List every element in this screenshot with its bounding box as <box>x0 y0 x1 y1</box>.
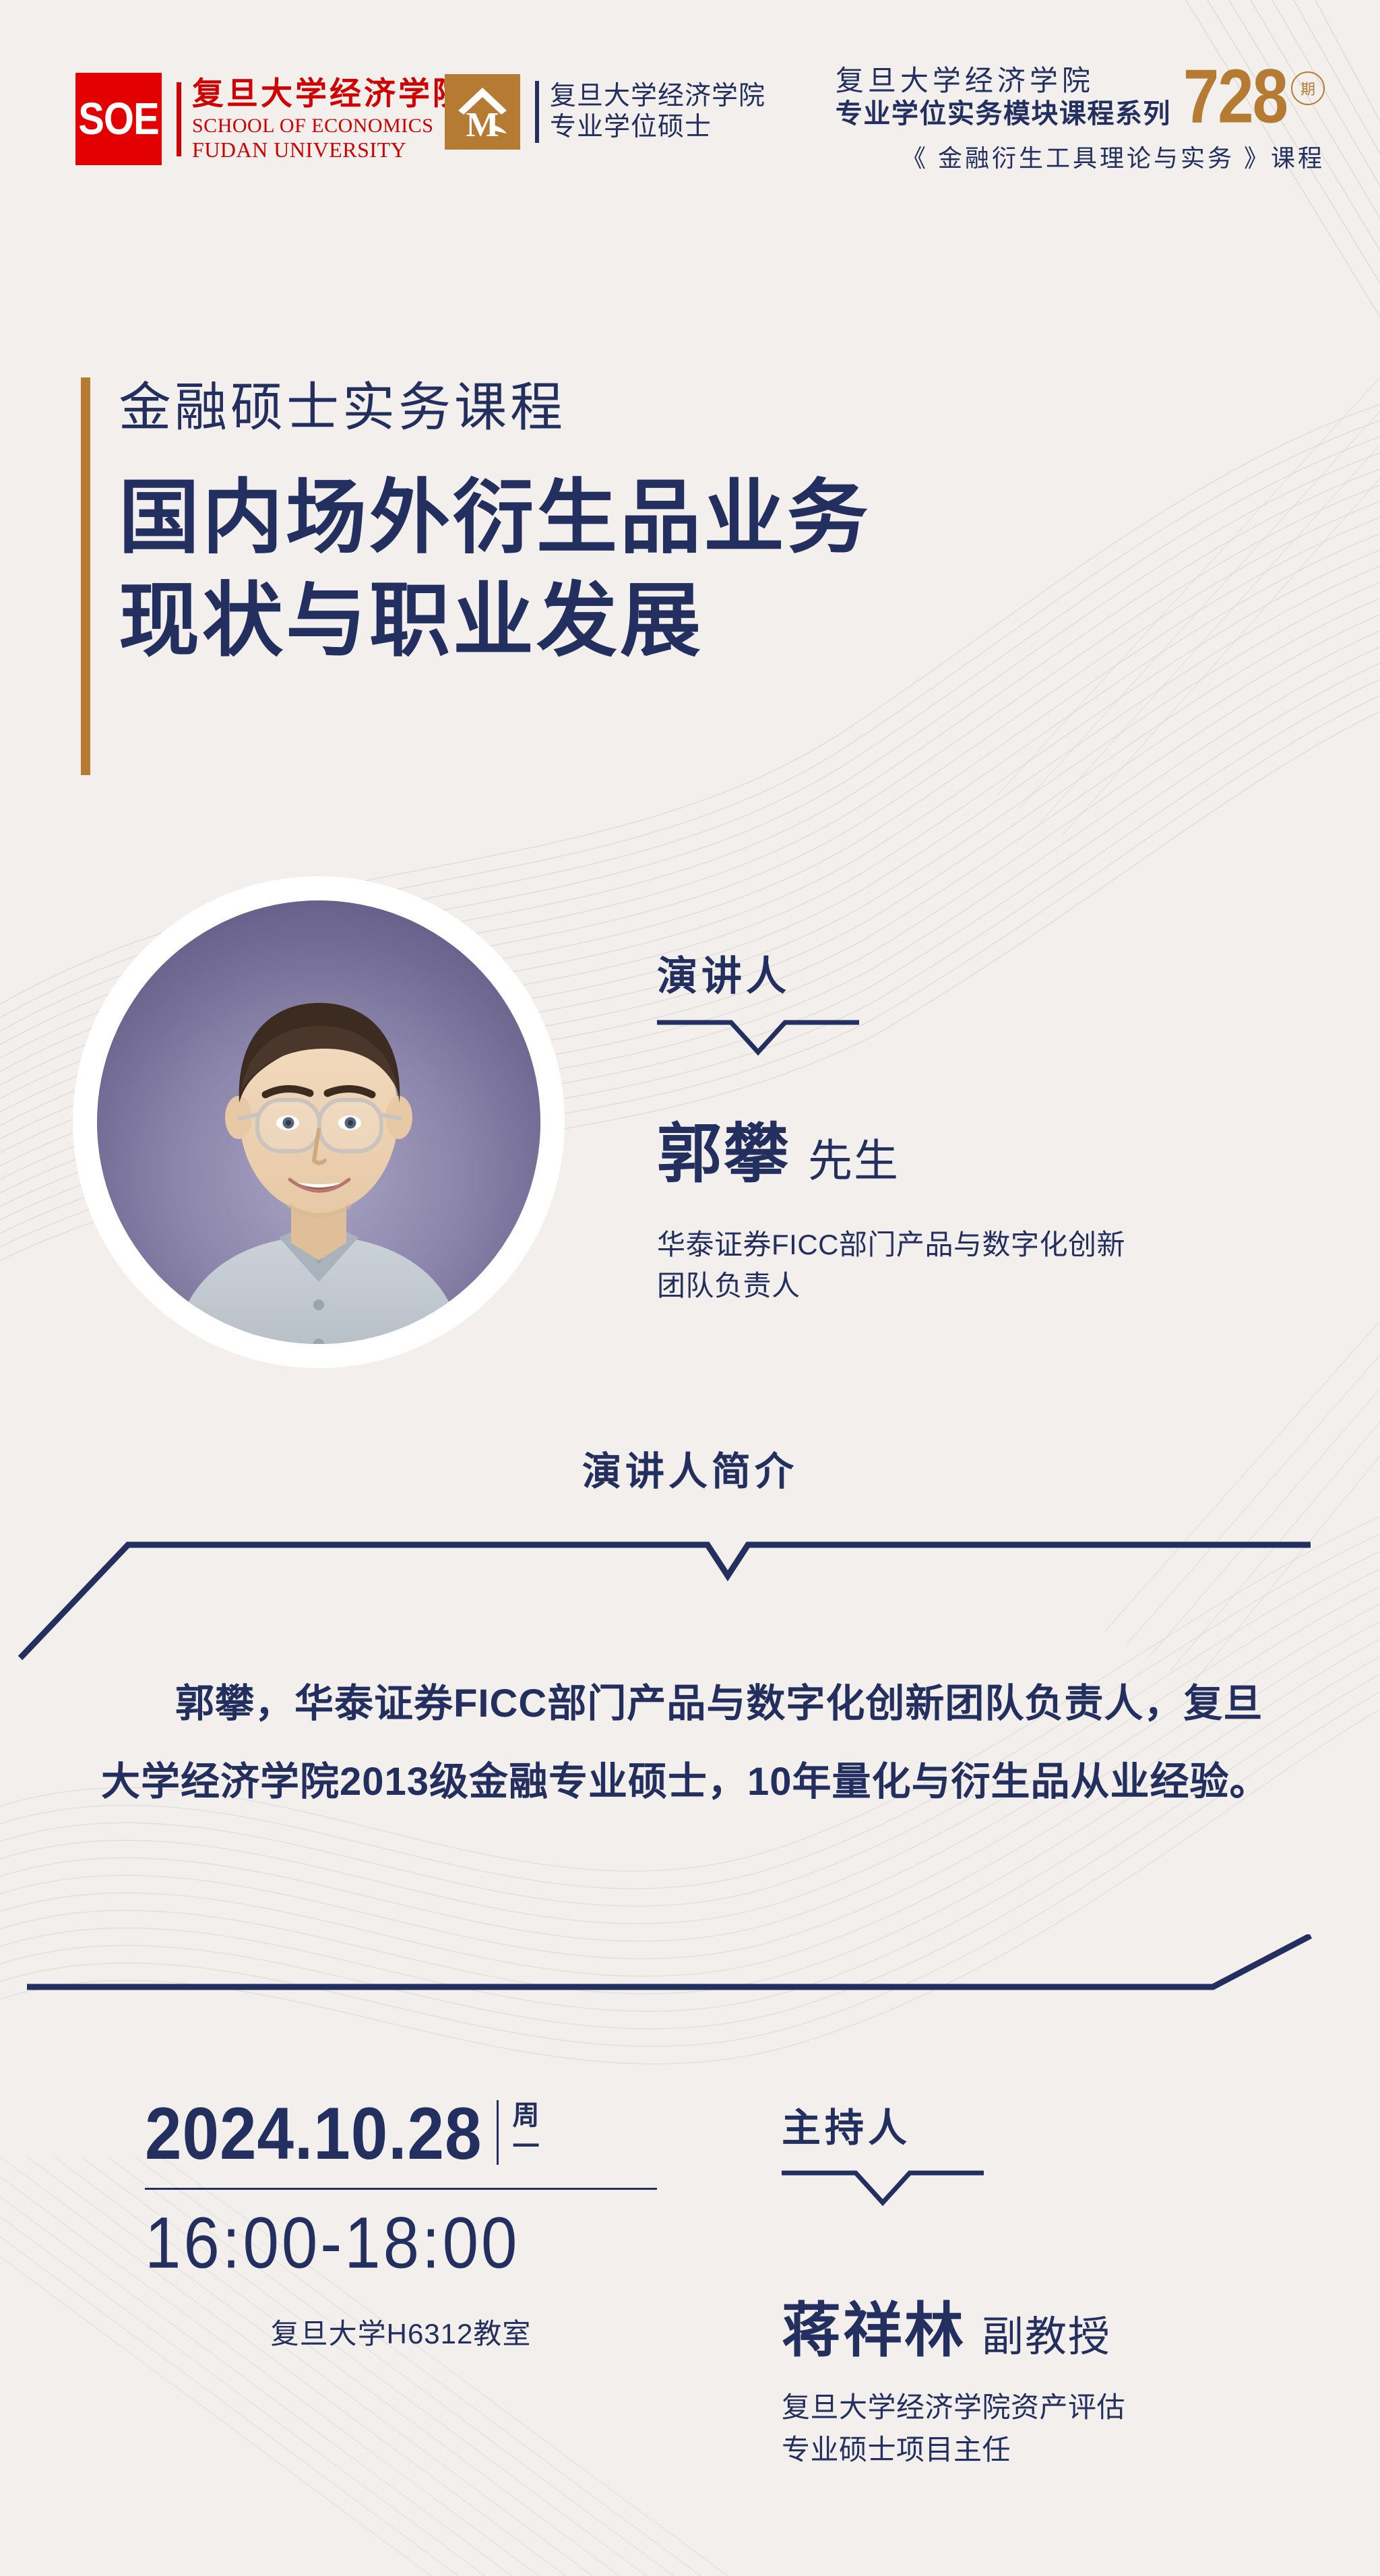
date-underline <box>145 2188 657 2190</box>
bio-frame-top-icon <box>0 1530 1380 1665</box>
bio-text: 郭攀，华泰证券FICC部门产品与数字化创新团队负责人，复旦大学经济学院2013级… <box>101 1665 1287 1821</box>
host-section-label: 主持人 <box>782 2096 1125 2153</box>
host-organization: 复旦大学经济学院资产评估 专业硕士项目主任 <box>782 2386 1125 2471</box>
series-line2: 专业学位实务模块课程系列 <box>836 99 1171 129</box>
speaker-title-line1: 华泰证券FICC部门产品与数字化创新 <box>657 1225 1125 1266</box>
event-details: 2024.10.28 周 一 16:00-18:00 复旦大学H6312教室 主… <box>0 2096 1380 2471</box>
master-logo-wordmark: 复旦大学经济学院 专业学位硕士 <box>550 81 765 143</box>
series-issue-number: 728 <box>1183 63 1287 131</box>
soe-logo-en-line1: SCHOOL OF ECONOMICS <box>192 116 467 136</box>
event-weekday: 周 一 <box>512 2100 539 2162</box>
series-text-block: 复旦大学经济学院 专业学位实务模块课程系列 <box>836 65 1171 129</box>
portrait-illustration <box>97 900 540 1344</box>
master-logo-line1: 复旦大学经济学院 <box>550 81 765 112</box>
master-program-logo: M 复旦大学经济学院 专业学位硕士 <box>445 74 765 150</box>
event-time: 16:00-18:00 <box>145 2207 520 2280</box>
date-separator <box>497 2100 499 2165</box>
date-row: 2024.10.28 周 一 <box>145 2096 704 2165</box>
svg-text:M: M <box>466 106 499 144</box>
header: SOE 复旦大学经济学院 SCHOOL OF ECONOMICS FUDAN U… <box>0 58 1380 213</box>
speaker-honorific: 先生 <box>808 1125 900 1190</box>
chevron-down-icon <box>657 1017 859 1059</box>
speaker-block: 演讲人 郭攀 先生 华泰证券FICC部门产品与数字化创新 团队负责人 <box>657 944 1125 1307</box>
speaker-chevron-divider <box>657 1017 1125 1062</box>
speaker-title: 华泰证券FICC部门产品与数字化创新 团队负责人 <box>657 1225 1125 1307</box>
weekday-char1: 周 <box>512 2100 539 2131</box>
title-texts: 金融硕士实务课程 国内场外衍生品业务 现状与职业发展 <box>119 377 871 775</box>
soe-logo-mark: SOE <box>75 73 162 165</box>
host-block: 主持人 蒋祥林 副教授 复旦大学经济学院资产评估 专业硕士项目主任 <box>782 2096 1125 2471</box>
date-time-block: 2024.10.28 周 一 16:00-18:00 复旦大学H6312教室 <box>145 2096 704 2471</box>
title-main-line2: 现状与职业发展 <box>119 570 871 673</box>
speaker-section-label: 演讲人 <box>657 944 1125 1002</box>
event-date: 2024.10.28 <box>145 2096 482 2170</box>
title-block: 金融硕士实务课程 国内场外衍生品业务 现状与职业发展 <box>81 377 871 775</box>
title-main-line1: 国内场外衍生品业务 <box>119 466 871 570</box>
event-venue: 复旦大学H6312教室 <box>145 2311 657 2352</box>
bio-section-label: 演讲人简介 <box>582 1450 798 1494</box>
host-org-line1: 复旦大学经济学院资产评估 <box>782 2386 1125 2428</box>
soe-logo-mark-text: SOE <box>78 93 159 145</box>
soe-logo: SOE 复旦大学经济学院 SCHOOL OF ECONOMICS FUDAN U… <box>75 73 467 165</box>
soe-logo-divider <box>177 82 181 156</box>
bio-bottom-frame <box>0 1934 1380 2019</box>
soe-logo-en-line2: FUDAN UNIVERSITY <box>192 139 467 160</box>
poster-root: SOE 复旦大学经济学院 SCHOOL OF ECONOMICS FUDAN U… <box>0 0 1380 2576</box>
master-logo-divider <box>535 81 539 143</box>
soe-logo-cn-name: 复旦大学经济学院 <box>192 78 467 110</box>
speaker-title-line2: 团队负责人 <box>657 1266 1125 1307</box>
chevron-down-icon <box>782 2168 984 2209</box>
title-accent-bar <box>81 377 90 775</box>
speaker-portrait <box>73 876 565 1368</box>
series-top-row: 复旦大学经济学院 专业学位实务模块课程系列 728 期 <box>836 65 1325 129</box>
series-issue-unit-badge: 期 <box>1291 71 1325 105</box>
portrait-image <box>97 900 540 1344</box>
host-chevron-divider <box>782 2168 1125 2213</box>
series-info: 复旦大学经济学院 专业学位实务模块课程系列 728 期 《 金融衍生工具理论与实… <box>836 65 1325 174</box>
host-rank: 副教授 <box>982 2302 1111 2363</box>
series-line1: 复旦大学经济学院 <box>836 65 1094 96</box>
host-name: 蒋祥林 <box>782 2283 966 2368</box>
gate-m-icon: M <box>445 74 520 150</box>
host-org-line2: 专业硕士项目主任 <box>782 2428 1125 2471</box>
series-course-name: 《 金融衍生工具理论与实务 》课程 <box>836 139 1325 174</box>
soe-logo-wordmark: 复旦大学经济学院 SCHOOL OF ECONOMICS FUDAN UNIVE… <box>192 78 467 160</box>
master-logo-line2: 专业学位硕士 <box>550 112 765 143</box>
bio-frame-bottom-icon <box>0 1934 1380 2015</box>
master-logo-mark: M <box>445 74 520 150</box>
title-kicker: 金融硕士实务课程 <box>119 379 871 437</box>
bio-top-frame <box>0 1530 1380 1668</box>
speaker-name-row: 郭攀 先生 <box>657 1101 1125 1195</box>
speaker-name: 郭攀 <box>657 1101 790 1195</box>
bio-header: 演讲人简介 <box>0 1440 1380 1496</box>
weekday-char2: 一 <box>512 2131 539 2162</box>
host-name-row: 蒋祥林 副教授 <box>782 2283 1125 2368</box>
